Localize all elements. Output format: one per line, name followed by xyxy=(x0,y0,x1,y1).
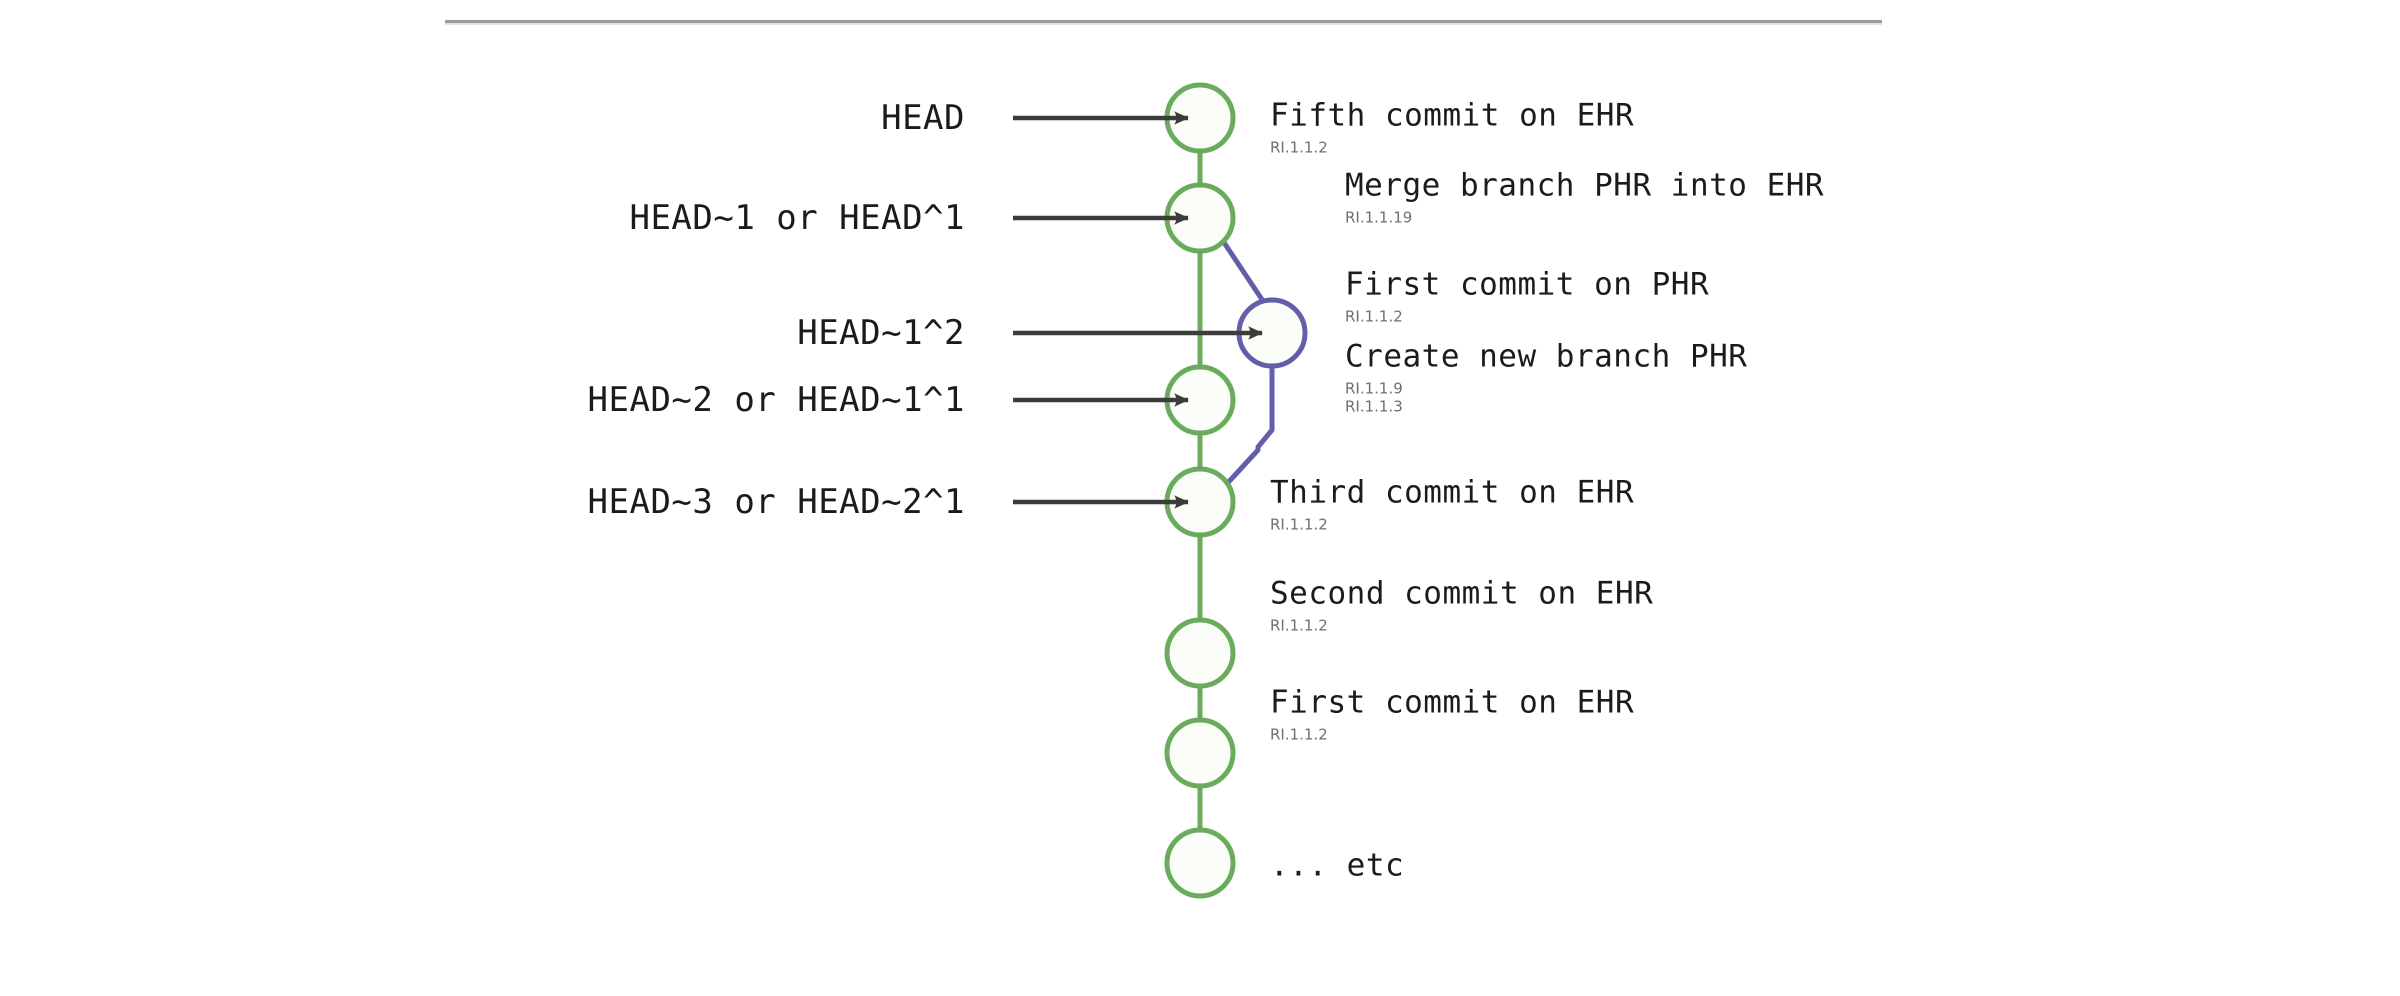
commit-node xyxy=(1167,620,1233,686)
commit-title: ... etc xyxy=(1270,850,1404,883)
commit-entry: Second commit on EHR RI.1.1.2 xyxy=(1270,578,1653,635)
commit-ref-list: RI.1.1.2 xyxy=(1270,616,1653,634)
commit-title: First commit on EHR xyxy=(1270,687,1634,720)
commit-title: Third commit on EHR xyxy=(1270,477,1634,510)
commit-ref-list: RI.1.1.2 xyxy=(1270,138,1634,156)
commit-ref: RI.1.1.3 xyxy=(1345,397,1747,415)
commit-nodes-ehr xyxy=(1167,85,1233,896)
commit-title: First commit on PHR xyxy=(1345,269,1709,302)
commit-ref: RI.1.1.2 xyxy=(1270,725,1634,743)
diagram-canvas: HEAD HEAD~1 or HEAD^1 HEAD~1^2 HEAD~2 or… xyxy=(0,0,2400,996)
commit-title: Merge branch PHR into EHR xyxy=(1345,170,1824,203)
commit-entry: First commit on EHR RI.1.1.2 xyxy=(1270,687,1634,744)
commit-entry: First commit on PHR RI.1.1.2 xyxy=(1345,269,1709,326)
commit-title: Create new branch PHR xyxy=(1345,340,1747,373)
commit-ref: RI.1.1.2 xyxy=(1270,138,1634,156)
commit-entry: Third commit on EHR RI.1.1.2 xyxy=(1270,477,1634,534)
head-ref-label-head-1-2: HEAD~1^2 xyxy=(797,316,965,350)
commit-ref: RI.1.1.2 xyxy=(1270,616,1653,634)
commit-ref: RI.1.1.9 xyxy=(1345,379,1747,397)
commit-ref-list: RI.1.1.2 xyxy=(1270,725,1634,743)
commit-ref: RI.1.1.2 xyxy=(1345,307,1709,325)
commit-ref-list: RI.1.1.2 xyxy=(1270,515,1634,533)
commit-ref: RI.1.1.19 xyxy=(1345,208,1824,226)
head-ref-label-head-2: HEAD~2 or HEAD~1^1 xyxy=(588,383,965,417)
head-ref-label-head-1: HEAD~1 or HEAD^1 xyxy=(629,201,965,235)
commit-entry: Create new branch PHR RI.1.1.9 RI.1.1.3 xyxy=(1345,340,1747,415)
head-ref-label-head-3: HEAD~3 or HEAD~2^1 xyxy=(588,485,965,519)
commit-ref: RI.1.1.2 xyxy=(1270,515,1634,533)
head-pointer-arrows xyxy=(1013,118,1262,502)
commit-ref-list: RI.1.1.9 RI.1.1.3 xyxy=(1345,379,1747,416)
commit-node xyxy=(1167,720,1233,786)
commit-node xyxy=(1167,830,1233,896)
commit-title: Second commit on EHR xyxy=(1270,578,1653,611)
commit-entry: Merge branch PHR into EHR RI.1.1.19 xyxy=(1345,170,1824,227)
commit-ref-list: RI.1.1.2 xyxy=(1345,307,1709,325)
commit-entry: Fifth commit on EHR RI.1.1.2 xyxy=(1270,100,1634,157)
commit-title: Fifth commit on EHR xyxy=(1270,100,1634,133)
commit-ref-list: RI.1.1.19 xyxy=(1345,208,1824,226)
commit-entry: ... etc xyxy=(1270,850,1404,883)
commit-graph xyxy=(0,0,2400,996)
head-ref-label-head: HEAD xyxy=(881,101,965,135)
